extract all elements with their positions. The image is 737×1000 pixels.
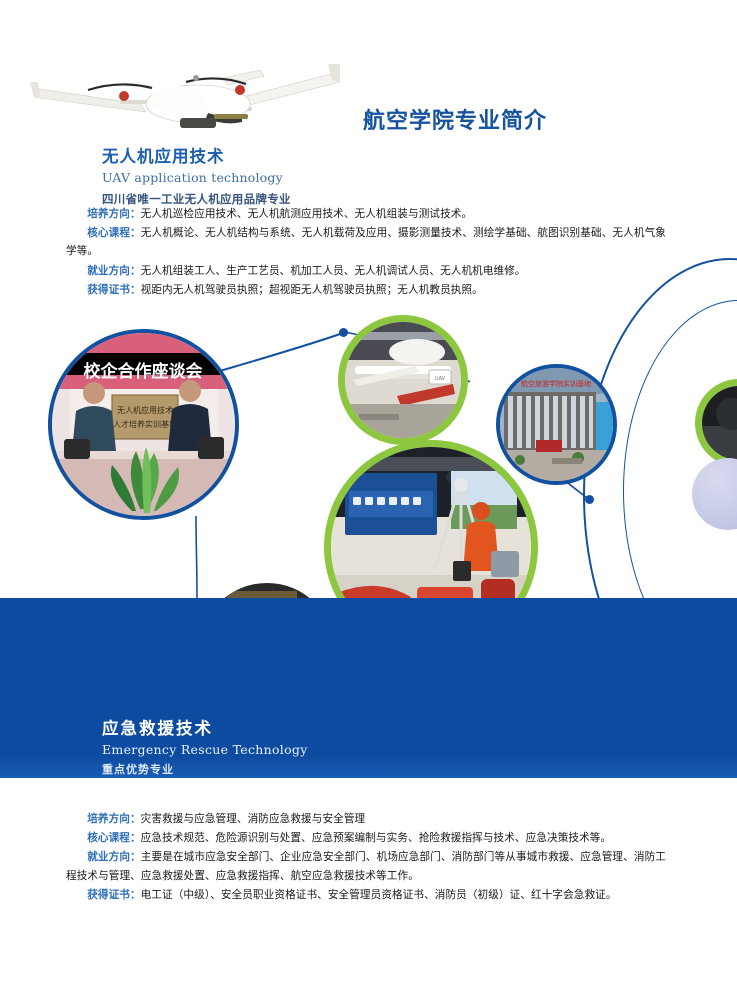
photo-school-enterprise-signing-ceremony: 校企合作座谈会 无人机应用技术 人才培养实训基地 [52, 333, 235, 516]
paragraph: 就业方向：无人机组装工人、生产工艺员、机加工人员、无人机调试人员、无人机机电维修… [66, 262, 666, 280]
svg-text:UAV: UAV [435, 376, 446, 382]
paragraph: 培养方向：灾害救援与应急管理、消防应急救援与安全管理 [66, 810, 666, 828]
paragraph: 获得证书：电工证（中级）、安全员职业资格证书、安全管理员资格证书、消防员（初级）… [66, 886, 666, 904]
paragraph-text: 无人机巡检应用技术、无人机航测应用技术、无人机组装与测试技术。 [141, 208, 473, 220]
photo-drone-exhibition-hall: UAV [345, 322, 461, 438]
paragraph-label: 获得证书： [87, 889, 140, 901]
paragraph-label: 核心课程： [87, 227, 141, 239]
poster-page: 航空学院专业简介 无人机应用技术 UAV application technol… [0, 0, 737, 1000]
rescue-subtitle: 重点优势专业 [102, 761, 308, 777]
paragraph-label: 培养方向： [87, 813, 140, 825]
svg-text:校企合作座谈会: 校企合作座谈会 [84, 361, 203, 382]
paragraph: 培养方向：无人机巡检应用技术、无人机航测应用技术、无人机组装与测试技术。 [66, 205, 666, 223]
paragraph: 就业方向：主要是在城市应急安全部门、企业应急安全部门、机场应急部门、消防部门等从… [66, 848, 666, 884]
paragraph-text: 主要是在城市应急安全部门、企业应急安全部门、机场应急部门、消防部门等从事城市救援… [66, 851, 666, 881]
svg-text:航空旅游学院实训基地: 航空旅游学院实训基地 [521, 379, 591, 388]
page-title: 航空学院专业简介 [363, 103, 547, 135]
paragraph-label: 就业方向： [87, 851, 141, 863]
rescue-title-cn: 应急救援技术 [102, 718, 308, 739]
connector-dot-right [585, 495, 594, 504]
paragraph-text: 无人机概论、无人机结构与系统、无人机载荷及应用、摄影测量技术、测绘学基础、航图识… [66, 227, 666, 257]
rescue-title-en: Emergency Rescue Technology [102, 742, 308, 757]
uav-title-cn: 无人机应用技术 [102, 146, 522, 168]
connector-dot-top [339, 328, 348, 337]
paragraph-label: 就业方向： [87, 265, 140, 277]
uav-title-en: UAV application technology [102, 170, 522, 186]
paragraph-text: 视距内无人机驾驶员执照；超视距无人机驾驶员执照；无人机教员执照。 [141, 284, 483, 296]
paragraph-text: 无人机组装工人、生产工艺员、机加工人员、无人机调试人员、无人机机电维修。 [141, 265, 526, 277]
paragraph-label: 培养方向： [87, 208, 140, 220]
photo-campus-building: 航空旅游学院实训基地 [500, 368, 613, 481]
paragraph-label: 核心课程： [87, 832, 140, 844]
svg-text:无人机应用技术: 无人机应用技术 [117, 405, 173, 415]
paragraph-text: 灾害救援与应急管理、消防应急救援与安全管理 [141, 813, 366, 825]
paragraph-text: 电工证（中级）、安全员职业资格证书、安全管理员资格证书、消防员（初级）证、红十字… [141, 889, 617, 901]
rescue-section-heading: 应急救援技术 Emergency Rescue Technology 重点优势专… [102, 718, 308, 777]
paragraph-label: 获得证书： [87, 284, 140, 296]
rescue-body-text: 培养方向：灾害救援与应急管理、消防应急救援与安全管理 核心课程：应急技术规范、危… [66, 810, 666, 905]
svg-text:人才培养实训基地: 人才培养实训基地 [113, 419, 177, 429]
fixed-wing-drone-icon [28, 52, 344, 144]
paragraph: 获得证书：视距内无人机驾驶员执照；超视距无人机驾驶员执照；无人机教员执照。 [66, 281, 666, 299]
right-edge-crescent-cut [657, 88, 737, 283]
uav-section-heading: 无人机应用技术 UAV application technology 四川省唯一… [102, 146, 522, 207]
uav-body-text: 培养方向：无人机巡检应用技术、无人机航测应用技术、无人机组装与测试技术。 核心课… [66, 205, 666, 300]
paragraph: 核心课程：应急技术规范、危险源识别与处置、应急预案编制与实务、抢险救援指挥与技术… [66, 829, 666, 847]
paragraph-text: 应急技术规范、危险源识别与处置、应急预案编制与实务、抢险救援指挥与技术、应急决策… [141, 832, 612, 844]
paragraph: 核心课程：无人机概论、无人机结构与系统、无人机载荷及应用、摄影测量技术、测绘学基… [66, 224, 666, 260]
